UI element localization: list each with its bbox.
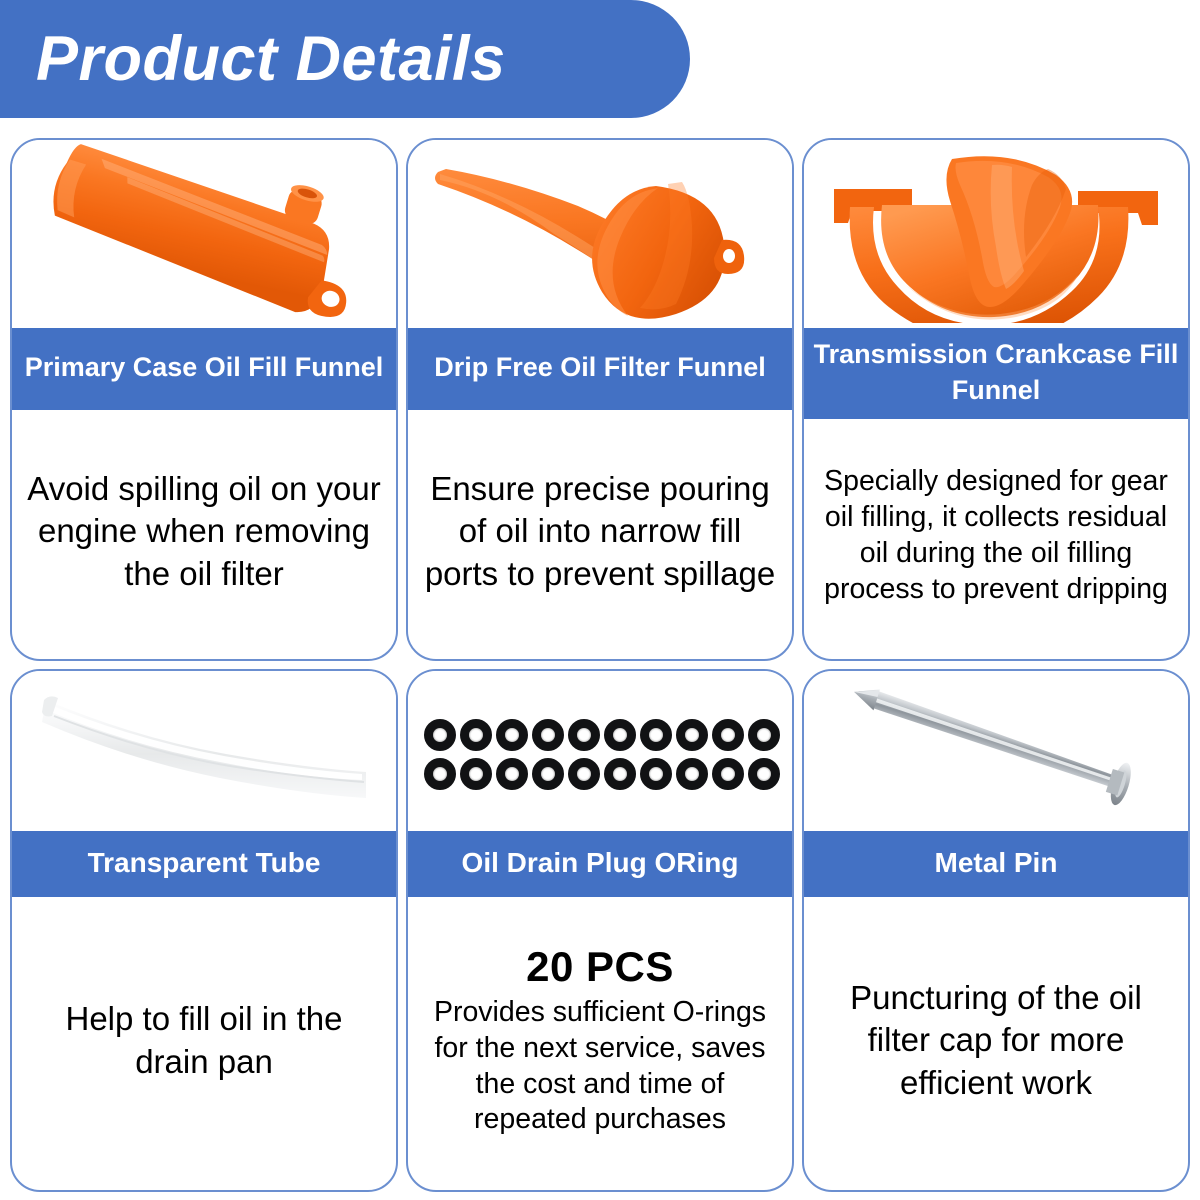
curved-spout-funnel-icon xyxy=(420,144,780,324)
funnel-cone-icon xyxy=(24,144,384,324)
oil-drain-plug-oring-image xyxy=(408,671,792,831)
clear-tube-icon xyxy=(24,676,384,826)
oring-item xyxy=(532,719,564,751)
product-card-drip-free-oil-filter-funnel[interactable]: Drip Free Oil Filter Funnel Ensure preci… xyxy=(406,138,794,661)
quantity-badge: 20 PCS xyxy=(526,943,674,991)
crankcase-basin-funnel-icon xyxy=(826,145,1166,323)
card-description: Ensure precise pouring of oil into narro… xyxy=(422,468,778,596)
product-card-transmission-crankcase-fill-funnel[interactable]: Transmission Crankcase Fill Funnel Speci… xyxy=(802,138,1190,661)
card-title: Primary Case Oil Fill Funnel xyxy=(12,328,396,410)
drip-free-oil-filter-funnel-image xyxy=(408,140,792,328)
card-title: Oil Drain Plug ORing xyxy=(408,831,792,897)
product-details-page: Product Details xyxy=(0,0,1200,1200)
page-header-banner: Product Details xyxy=(0,0,690,118)
page-title: Product Details xyxy=(36,23,506,95)
oring-item xyxy=(460,719,492,751)
card-body: Specially designed for gear oil filling,… xyxy=(804,419,1188,659)
oring-grid xyxy=(424,713,776,790)
oring-item xyxy=(460,758,492,790)
oring-item xyxy=(532,758,564,790)
card-description: Help to fill oil in the drain pan xyxy=(26,998,382,1083)
oring-item xyxy=(748,758,780,790)
product-card-grid: Primary Case Oil Fill Funnel Avoid spill… xyxy=(10,138,1190,1192)
card-body: Help to fill oil in the drain pan xyxy=(12,897,396,1190)
card-title: Drip Free Oil Filter Funnel xyxy=(408,328,792,410)
metal-pin-image xyxy=(804,671,1188,831)
card-title: Transparent Tube xyxy=(12,831,396,897)
card-body: Avoid spilling oil on your engine when r… xyxy=(12,410,396,659)
oring-item xyxy=(568,758,600,790)
card-body: Puncturing of the oil filter cap for mor… xyxy=(804,897,1188,1190)
oring-item xyxy=(712,758,744,790)
oring-item xyxy=(640,758,672,790)
card-description: Avoid spilling oil on your engine when r… xyxy=(26,468,382,596)
card-description: Puncturing of the oil filter cap for mor… xyxy=(818,977,1174,1105)
oring-item xyxy=(640,719,672,751)
oring-item xyxy=(496,719,528,751)
transparent-tube-image xyxy=(12,671,396,831)
product-card-transparent-tube[interactable]: Transparent Tube Help to fill oil in the… xyxy=(10,669,398,1192)
oring-item xyxy=(676,719,708,751)
metal-pin-icon xyxy=(821,676,1171,826)
card-body: 20 PCS Provides sufficient O-rings for t… xyxy=(408,897,792,1190)
card-description: Specially designed for gear oil filling,… xyxy=(818,464,1174,608)
primary-case-oil-fill-funnel-image xyxy=(12,140,396,328)
oring-item xyxy=(424,758,456,790)
card-title: Metal Pin xyxy=(804,831,1188,897)
card-title: Transmission Crankcase Fill Funnel xyxy=(804,328,1188,419)
oring-item xyxy=(424,719,456,751)
transmission-crankcase-fill-funnel-image xyxy=(804,140,1188,328)
product-card-primary-case-oil-fill-funnel[interactable]: Primary Case Oil Fill Funnel Avoid spill… xyxy=(10,138,398,661)
oring-item xyxy=(748,719,780,751)
oring-item xyxy=(604,719,636,751)
oring-item xyxy=(568,719,600,751)
oring-item xyxy=(712,719,744,751)
oring-item xyxy=(676,758,708,790)
card-body: Ensure precise pouring of oil into narro… xyxy=(408,410,792,659)
product-card-metal-pin[interactable]: Metal Pin Puncturing of the oil filter c… xyxy=(802,669,1190,1192)
oring-item xyxy=(496,758,528,790)
product-card-oil-drain-plug-oring[interactable]: Oil Drain Plug ORing 20 PCS Provides suf… xyxy=(406,669,794,1192)
card-description: Provides sufficient O-rings for the next… xyxy=(422,995,778,1139)
oring-item xyxy=(604,758,636,790)
